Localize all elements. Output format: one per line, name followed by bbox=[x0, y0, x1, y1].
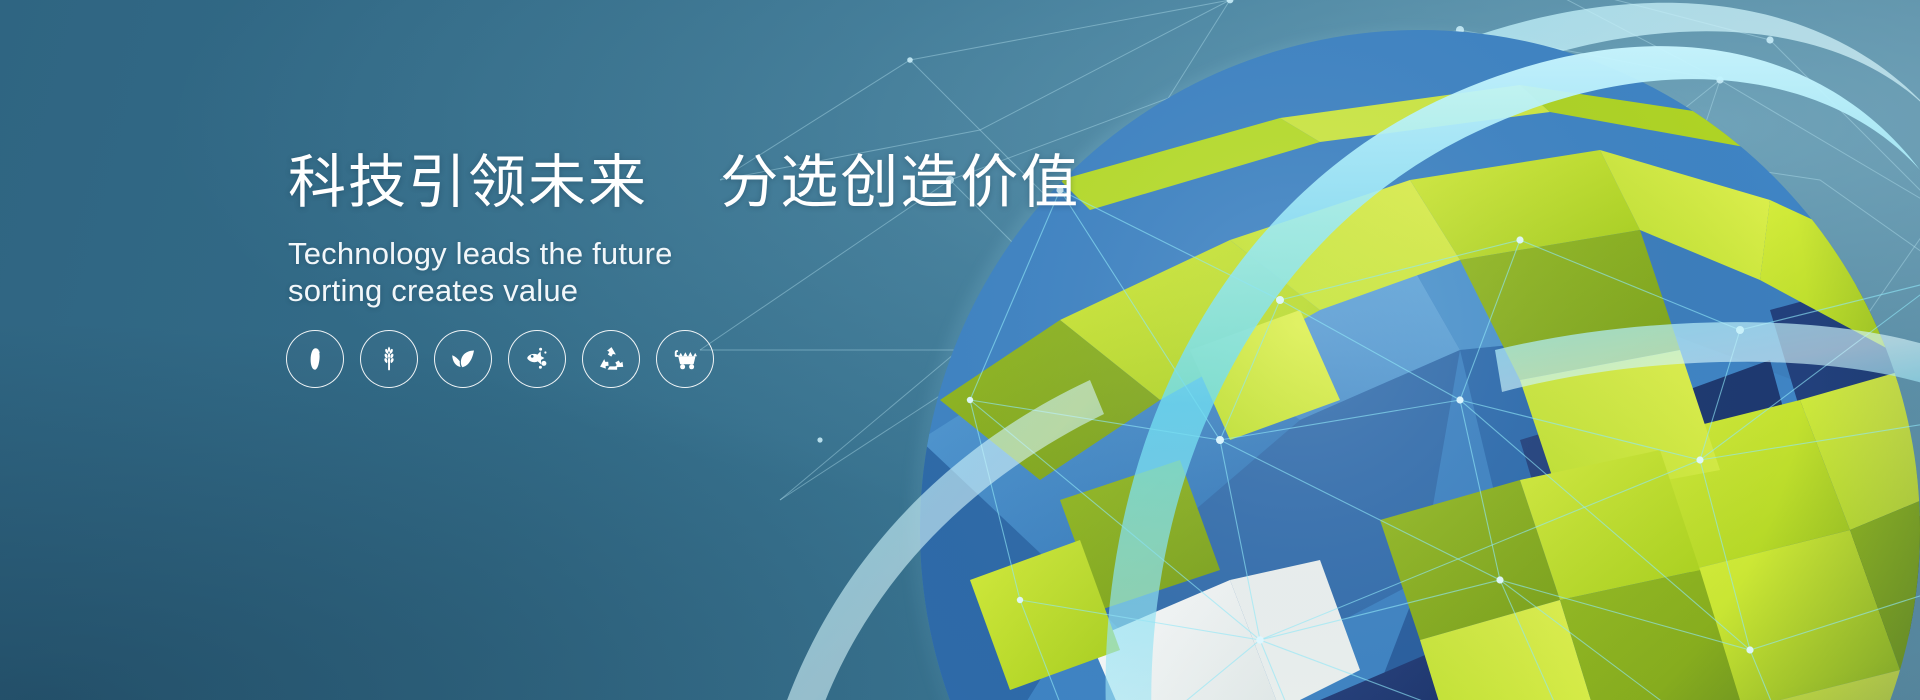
icon-badge-fish[interactable] bbox=[508, 330, 566, 388]
icon-badge-tea-leaf[interactable] bbox=[434, 330, 492, 388]
rice-grain-icon bbox=[300, 344, 330, 374]
industry-icon-row bbox=[286, 330, 714, 388]
headline-part-1: 科技引领未来 bbox=[288, 150, 648, 215]
headline-part-2: 分选创造价值 bbox=[720, 150, 1080, 215]
hero-subtitle: Technology leads the future sorting crea… bbox=[288, 235, 1048, 311]
fish-icon bbox=[521, 343, 553, 375]
icon-badge-wheat-ear[interactable] bbox=[360, 330, 418, 388]
tea-leaf-icon bbox=[447, 343, 479, 375]
wheat-ear-icon bbox=[374, 344, 404, 374]
subtitle-line-2: sorting creates value bbox=[288, 272, 1048, 310]
recycle-icon bbox=[596, 344, 627, 375]
mine-cart-icon bbox=[669, 343, 701, 375]
icon-badge-recycle[interactable] bbox=[582, 330, 640, 388]
icon-badge-rice-grain[interactable] bbox=[286, 330, 344, 388]
icon-badge-mine-cart[interactable] bbox=[656, 330, 714, 388]
hero-copy: 科技引领未来 分选创造价值 Technology leads the futur… bbox=[288, 152, 1048, 310]
subtitle-line-1: Technology leads the future bbox=[288, 235, 1048, 273]
hero-banner: 科技引领未来 分选创造价值 Technology leads the futur… bbox=[0, 0, 1920, 700]
page-title: 科技引领未来 分选创造价值 bbox=[288, 152, 1048, 215]
